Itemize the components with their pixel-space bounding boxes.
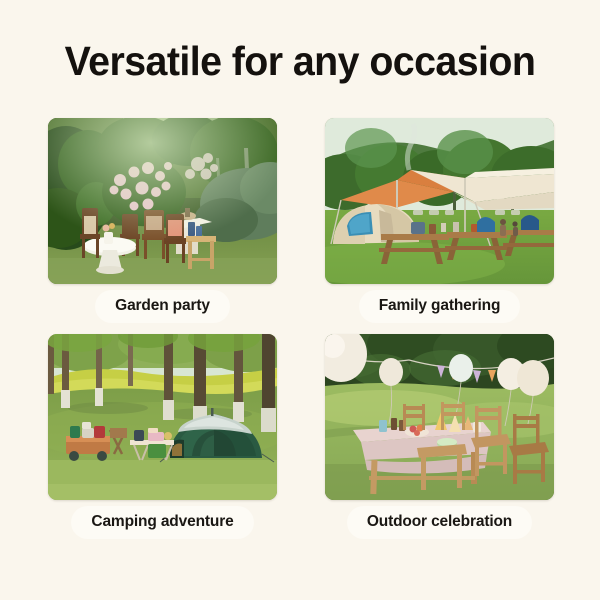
caption-wrap: Garden party [48, 284, 277, 328]
occasion-card-family-gathering[interactable]: Family gathering [325, 118, 554, 328]
camping-adventure-photo[interactable] [48, 334, 277, 500]
occasion-card-camping-adventure[interactable]: Camping adventure [48, 334, 277, 544]
product-feature-panel: Versatile for any occasion [0, 0, 600, 600]
caption-camping-adventure: Camping adventure [71, 506, 253, 539]
caption-wrap: Family gathering [325, 284, 554, 328]
occasion-card-outdoor-celebration[interactable]: Outdoor celebration [325, 334, 554, 544]
caption-wrap: Camping adventure [48, 500, 277, 544]
page-title: Versatile for any occasion [12, 38, 588, 85]
caption-outdoor-celebration: Outdoor celebration [347, 506, 532, 539]
family-gathering-photo[interactable] [325, 118, 554, 284]
occasion-card-garden-party[interactable]: Garden party [48, 118, 277, 328]
caption-garden-party: Garden party [95, 290, 230, 323]
caption-wrap: Outdoor celebration [325, 500, 554, 544]
caption-family-gathering: Family gathering [359, 290, 521, 323]
outdoor-celebration-photo[interactable] [325, 334, 554, 500]
occasion-grid: Garden party [48, 118, 554, 544]
garden-party-photo[interactable] [48, 118, 277, 284]
